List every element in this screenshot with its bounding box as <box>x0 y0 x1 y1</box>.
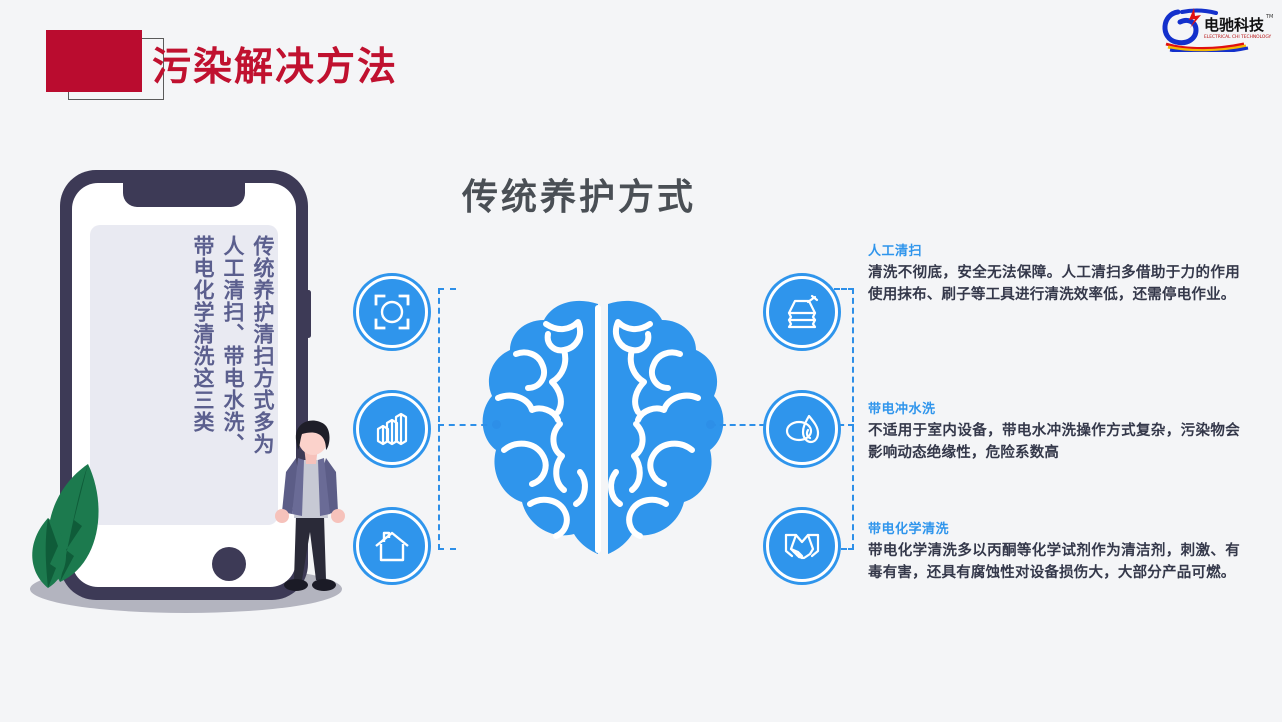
broom-stack-icon[interactable] <box>766 276 838 348</box>
item-body: 带电化学清洗多以丙酮等化学试剂作为清洁剂，刺激、有毒有害，还具有腐蚀性对设备损伤… <box>868 540 1240 585</box>
svg-text:电驰科技: 电驰科技 <box>1204 16 1265 34</box>
brain-illustration <box>470 292 736 562</box>
connector-dot-right <box>706 420 715 429</box>
phone-side-button <box>306 290 311 338</box>
title-accent-rect <box>46 30 142 92</box>
company-logo: 电驰科技 ELECTRICAL CHI TECHNOLOGY TM <box>1156 4 1274 52</box>
list-item: 人工清扫 清洗不彻底，安全无法保障。人工清扫多借助于力的作用使用抹布、刷子等工具… <box>868 240 1240 307</box>
connector-dot-left <box>492 420 501 429</box>
connector-right-top <box>834 288 854 290</box>
item-heading: 带电化学清洗 <box>868 518 1240 537</box>
connector-right-vertical <box>852 288 854 550</box>
leaf-decoration <box>30 460 150 590</box>
phone-vertical-text-2: 人工清扫、带电水洗、 <box>222 235 243 535</box>
slide-title-block: 污染解决方法 <box>46 30 446 110</box>
item-heading: 带电冲水洗 <box>868 398 1240 417</box>
page-title: 污染解决方法 <box>152 36 398 92</box>
section-heading: 传统养护方式 <box>462 168 696 220</box>
svg-text:TM: TM <box>1265 14 1273 20</box>
item-heading: 人工清扫 <box>868 240 1240 259</box>
connector-left-bottom <box>438 548 456 550</box>
svg-text:ELECTRICAL CHI TECHNOLOGY: ELECTRICAL CHI TECHNOLOGY <box>1204 34 1272 40</box>
phone-notch <box>123 183 245 207</box>
list-item: 带电化学清洗 带电化学清洗多以丙酮等化学试剂作为清洁剂，刺激、有毒有害，还具有腐… <box>868 518 1240 585</box>
focus-frame-icon[interactable] <box>356 276 428 348</box>
handshake-icon[interactable] <box>766 510 838 582</box>
item-body: 清洗不彻底，安全无法保障。人工清扫多借助于力的作用使用抹布、刷子等工具进行清洗效… <box>868 262 1240 307</box>
connector-left-vertical <box>438 288 440 550</box>
phone-illustration: 传统养护清扫方式多为 人工清扫、带电水洗、 带电化学清洗这三类 <box>30 170 360 670</box>
list-item: 带电冲水洗 不适用于室内设备，带电水冲洗操作方式复杂，污染物会影响动态绝缘性，危… <box>868 398 1240 465</box>
phone-home-button <box>212 547 246 581</box>
connector-left-top <box>438 288 456 290</box>
item-body: 不适用于室内设备，带电水冲洗操作方式复杂，污染物会影响动态绝缘性，危险系数高 <box>868 420 1240 465</box>
phone-vertical-text-3: 带电化学清洗这三类 <box>192 235 213 535</box>
person-illustration <box>258 420 368 610</box>
slide-root: 污染解决方法 电驰科技 ELECTRICAL CHI TECHNOLOGY TM… <box>0 0 1282 722</box>
water-spray-icon[interactable] <box>766 393 838 465</box>
